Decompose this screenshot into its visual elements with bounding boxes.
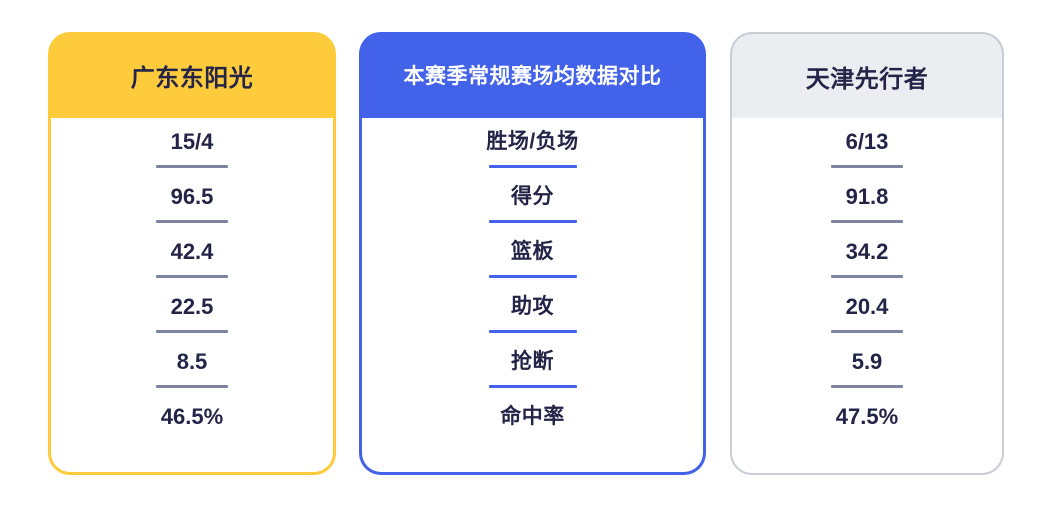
row-divider — [156, 220, 228, 223]
row-divider — [489, 385, 577, 388]
away-stat-value: 5.9 — [852, 345, 883, 379]
home-team-stats-list: 15/4 96.5 42.4 22.5 8.5 46.5% — [48, 118, 336, 475]
stat-row: 91.8 — [732, 180, 1002, 235]
home-team-header: 广东东阳光 — [48, 32, 336, 118]
away-stat-value: 6/13 — [846, 125, 889, 159]
stat-row: 22.5 — [51, 290, 333, 345]
row-divider — [156, 165, 228, 168]
stat-label: 命中率 — [500, 400, 565, 434]
stat-row: 胜场/负场 — [362, 125, 703, 180]
home-stat-value: 96.5 — [171, 180, 214, 214]
stat-row: 47.5% — [732, 400, 1002, 455]
comparison-title-header: 本赛季常规赛场均数据对比 — [359, 32, 706, 118]
home-stat-value: 8.5 — [177, 345, 208, 379]
away-stat-value: 20.4 — [846, 290, 889, 324]
stat-labels-card: 本赛季常规赛场均数据对比 胜场/负场 得分 篮板 助攻 抢断 — [359, 32, 706, 475]
stat-row: 6/13 — [732, 125, 1002, 180]
stat-label: 抢断 — [511, 345, 554, 379]
stat-row: 46.5% — [51, 400, 333, 455]
home-team-card: 广东东阳光 15/4 96.5 42.4 22.5 8.5 — [48, 32, 336, 475]
home-stat-value: 15/4 — [171, 125, 214, 159]
away-team-header: 天津先行者 — [730, 32, 1004, 118]
stat-row: 命中率 — [362, 400, 703, 455]
row-divider — [831, 275, 903, 278]
away-stat-value: 34.2 — [846, 235, 889, 269]
away-team-card: 天津先行者 6/13 91.8 34.2 20.4 5.9 — [730, 32, 1004, 475]
away-team-stats-list: 6/13 91.8 34.2 20.4 5.9 47.5% — [730, 118, 1004, 475]
away-stat-value: 47.5% — [836, 400, 898, 434]
home-stat-value: 42.4 — [171, 235, 214, 269]
stat-row: 5.9 — [732, 345, 1002, 400]
row-divider — [831, 165, 903, 168]
stat-label: 得分 — [511, 180, 554, 214]
stat-label: 助攻 — [511, 290, 554, 324]
row-divider — [489, 165, 577, 168]
stat-labels-list: 胜场/负场 得分 篮板 助攻 抢断 命中率 — [359, 118, 706, 475]
home-team-title: 广东东阳光 — [131, 58, 254, 93]
stat-row: 15/4 — [51, 125, 333, 180]
home-stat-value: 22.5 — [171, 290, 214, 324]
row-divider — [831, 330, 903, 333]
row-divider — [489, 275, 577, 278]
stat-row: 34.2 — [732, 235, 1002, 290]
row-divider — [831, 220, 903, 223]
stat-label: 胜场/负场 — [486, 125, 578, 159]
row-divider — [156, 330, 228, 333]
stat-row: 42.4 — [51, 235, 333, 290]
stat-row: 助攻 — [362, 290, 703, 345]
stat-row: 8.5 — [51, 345, 333, 400]
stat-row: 20.4 — [732, 290, 1002, 345]
stat-row: 得分 — [362, 180, 703, 235]
comparison-title: 本赛季常规赛场均数据对比 — [404, 60, 662, 90]
row-divider — [156, 385, 228, 388]
row-divider — [489, 220, 577, 223]
stat-row: 抢断 — [362, 345, 703, 400]
stat-label: 篮板 — [511, 235, 554, 269]
stat-row: 96.5 — [51, 180, 333, 235]
comparison-infographic: 广东东阳光 15/4 96.5 42.4 22.5 8.5 — [0, 0, 1052, 507]
row-divider — [831, 385, 903, 388]
row-divider — [156, 275, 228, 278]
stat-row: 篮板 — [362, 235, 703, 290]
home-stat-value: 46.5% — [161, 400, 223, 434]
away-stat-value: 91.8 — [846, 180, 889, 214]
away-team-title: 天津先行者 — [806, 59, 929, 94]
row-divider — [489, 330, 577, 333]
